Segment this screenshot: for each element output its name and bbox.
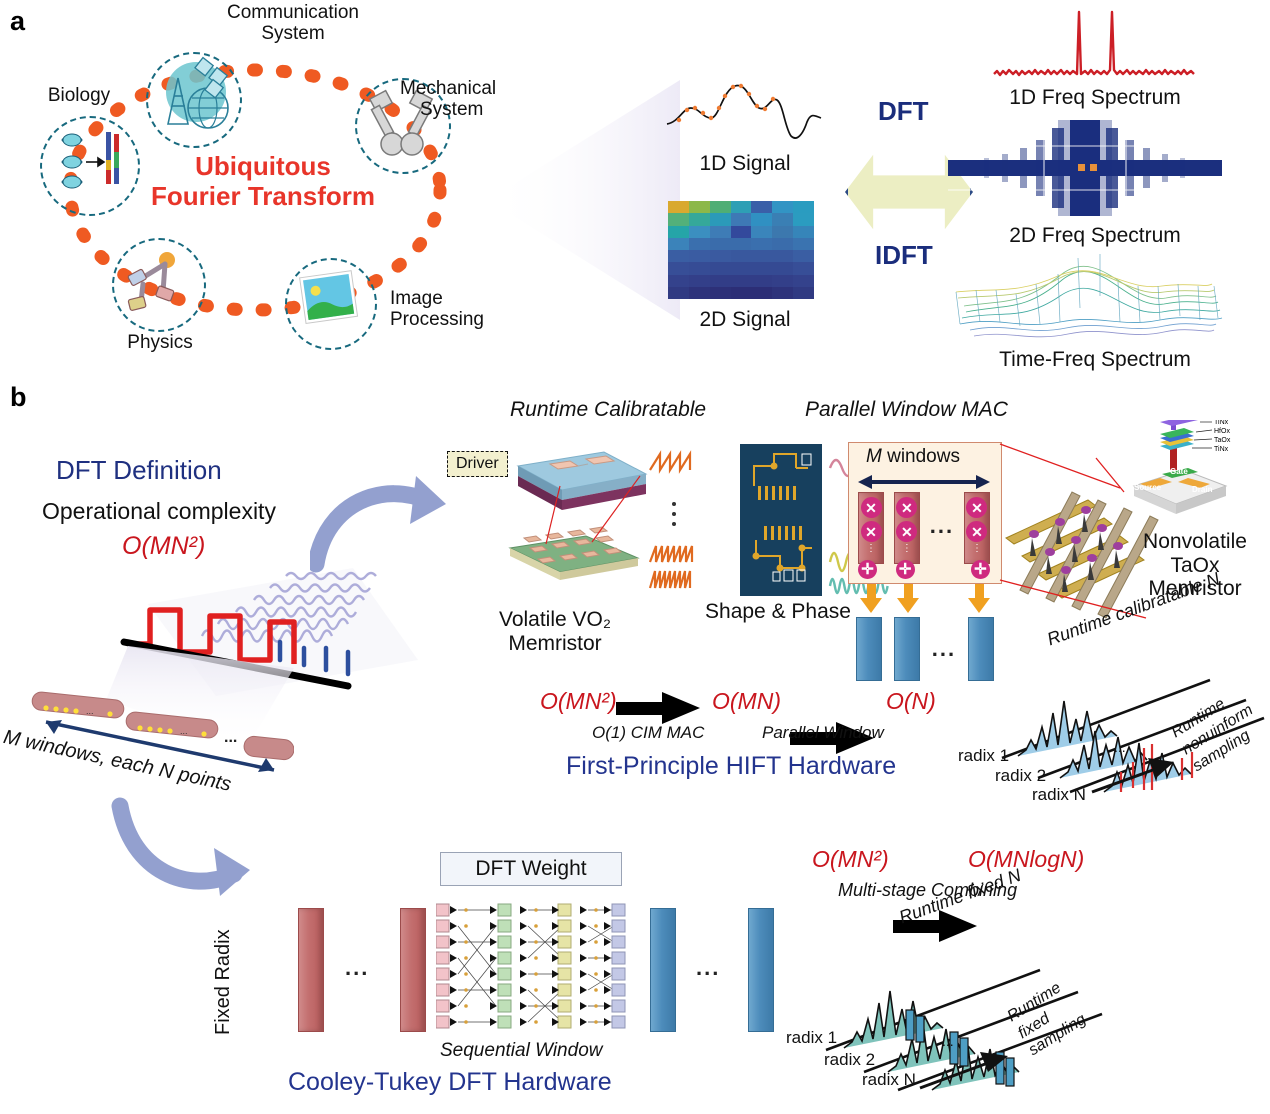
accumulate-icon: ✛ — [858, 560, 877, 579]
waveforms-orange — [648, 450, 728, 600]
chart-2d-freq-spectrum — [940, 118, 1230, 218]
panel-a-letter: a — [10, 6, 25, 37]
label-communication-l1: Communication — [227, 2, 359, 23]
svg-text:...: ... — [1114, 739, 1126, 755]
multiply-icon: ✕ — [861, 497, 882, 518]
mac-column: ✕ ✕ ⋮ — [964, 492, 990, 564]
output-bar — [856, 617, 882, 681]
ubiquitous-fourier-title: Ubiquitous Fourier Transform — [128, 152, 398, 212]
svg-text:...: ... — [224, 729, 237, 746]
label-image-l2: Processing — [390, 309, 484, 330]
transistor-memristor-detail: TiNx HfOx TaOx TiNx Source Gate Drain — [1126, 420, 1246, 526]
label-mechanical-l1: Mechanical — [400, 78, 496, 99]
hift-hardware-title: First-Principle HIFT Hardware — [566, 752, 896, 781]
chart-1d-freq-spectrum — [990, 8, 1220, 80]
hift-step-2-caption: Parallel Window — [762, 723, 884, 743]
heading-runtime-calibratable: Runtime Calibratable — [510, 398, 706, 422]
output-arrow-icon — [897, 584, 919, 613]
svg-text:...: ... — [86, 706, 94, 716]
multiply-icon: ✕ — [896, 521, 917, 542]
label-image-processing: Image Processing — [390, 288, 540, 331]
cooley-hardware-title: Cooley-Tukey DFT Hardware — [288, 1068, 612, 1097]
cooley-radix-n: radix N — [862, 1070, 916, 1090]
uft-line2: Fourier Transform — [151, 181, 375, 211]
accumulate-icon: ✛ — [971, 560, 990, 579]
cooley-complexity-to: O(MNlogN) — [968, 846, 1084, 873]
cooley-input-bar — [298, 908, 324, 1032]
label-physics: Physics — [105, 332, 215, 353]
svg-text:Source: Source — [1134, 483, 1162, 492]
multiply-icon: ✕ — [966, 497, 987, 518]
label-1d-freq-spectrum: 1D Freq Spectrum — [960, 86, 1230, 110]
mac-ellipsis: ... — [930, 513, 954, 539]
definition-complexity-value: O(MN²) — [122, 532, 205, 561]
butterfly-network — [436, 902, 626, 1036]
mac-output-bars: ... — [856, 618, 994, 680]
chart-time-freq-spectrum — [950, 252, 1230, 348]
operational-complexity-label: Operational complexity — [42, 498, 276, 525]
svg-text:...: ... — [180, 726, 188, 736]
chart-2d-signal — [668, 201, 814, 299]
mac-column: ✕ ✕ ⋮ — [858, 492, 884, 564]
label-idft: IDFT — [875, 240, 933, 271]
driver-box[interactable]: Driver — [447, 451, 508, 477]
cooley-output-ellipsis: ... — [696, 955, 720, 981]
label-time-freq-spectrum: Time-Freq Spectrum — [950, 348, 1240, 372]
multiply-icon: ✕ — [861, 521, 882, 542]
cooley-radix-2: radix 2 — [824, 1050, 875, 1070]
output-arrow-icon — [860, 584, 882, 613]
accumulate-icon: ✛ — [896, 560, 915, 579]
dft-definition-title: DFT Definition — [56, 455, 222, 486]
svg-text:Drain: Drain — [1192, 485, 1213, 494]
mac-accumulators: ✛ ✛ ✛ — [858, 560, 990, 579]
label-1d-signal: 1D Signal — [660, 152, 830, 176]
output-bar — [968, 617, 994, 681]
chart-1d-signal — [665, 78, 825, 146]
label-mechanical-l2: System — [420, 99, 483, 120]
label-image-l1: Image — [390, 288, 443, 309]
mac-output-arrows — [860, 584, 990, 613]
mac-columns: ✕ ✕ ⋮ ✕ ✕ ⋮ ... ✕ ✕ ⋮ — [858, 492, 990, 560]
uft-line1: Ubiquitous — [195, 151, 331, 181]
label-dft: DFT — [878, 96, 929, 127]
label-biology: Biology — [24, 85, 134, 106]
label-2d-freq-spectrum: 2D Freq Spectrum — [960, 224, 1230, 248]
label-mechanical: Mechanical System — [400, 78, 580, 121]
hift-step-1-caption: O(1) CIM MAC — [592, 723, 704, 743]
hift-complexity-2: O(MN) — [712, 688, 781, 715]
cooley-input-ellipsis: ... — [345, 955, 369, 981]
satellite-antenna-icon — [152, 56, 238, 142]
output-arrow-icon — [968, 584, 990, 613]
label-shape-phase: Shape & Phase — [678, 600, 878, 624]
svg-text:TiNx: TiNx — [1214, 446, 1229, 453]
m-windows-arrow — [858, 474, 990, 490]
multiply-icon: ✕ — [896, 497, 917, 518]
layer-label: TiNx — [1214, 420, 1229, 426]
multiply-icon: ✕ — [966, 521, 987, 542]
heading-parallel-window-mac: Parallel Window MAC — [805, 398, 1008, 422]
atom-collision-icon — [123, 248, 193, 318]
cooley-output-bar — [748, 908, 774, 1032]
svg-text:HfOx: HfOx — [1214, 428, 1230, 435]
hift-arrow-1 — [616, 693, 700, 723]
volatile-l1: Volatile VO₂ — [499, 608, 611, 631]
svg-text:TaOx: TaOx — [1214, 437, 1231, 444]
chip-icon — [740, 444, 822, 596]
dna-icon — [52, 128, 124, 200]
fixed-radix-label: Fixed Radix — [212, 905, 235, 1035]
cooley-complexity-from: O(MN²) — [812, 846, 889, 873]
panel-b-letter: b — [10, 382, 27, 413]
svg-text:Gate: Gate — [1170, 467, 1188, 476]
picture-icon — [299, 270, 363, 334]
cooley-output-bar — [650, 908, 676, 1032]
nonvolatile-l1: Nonvolatile — [1143, 530, 1247, 553]
hift-radix-2: radix 2 — [995, 766, 1046, 786]
hift-complexity-1: O(MN²) — [540, 688, 617, 715]
label-communication-l2: System — [261, 23, 324, 44]
label-2d-signal: 2D Signal — [660, 308, 830, 332]
svg-text:...: ... — [942, 1033, 954, 1049]
label-communication: Communication System — [188, 2, 398, 45]
output-ellipsis: ... — [932, 636, 956, 662]
hift-radix-n: radix N — [1032, 785, 1086, 805]
hift-complexity-3: O(N) — [886, 688, 936, 715]
volatile-vo2-device — [500, 432, 660, 592]
cooley-input-bar — [400, 908, 426, 1032]
output-bar — [894, 617, 920, 681]
label-volatile-vo2: Volatile VO₂ Memristor — [470, 608, 640, 655]
dft-weight-box[interactable]: DFT Weight — [440, 852, 622, 886]
hift-radix-1: radix 1 — [958, 746, 1009, 766]
label-m-windows: M windows — [866, 446, 960, 468]
volatile-l2: Memristor — [508, 632, 601, 655]
cooley-radix-1: radix 1 — [786, 1028, 837, 1048]
sequential-window-label: Sequential Window — [440, 1040, 602, 1062]
mac-column: ✕ ✕ ⋮ — [894, 492, 920, 564]
arrow-to-cooley — [110, 790, 250, 910]
